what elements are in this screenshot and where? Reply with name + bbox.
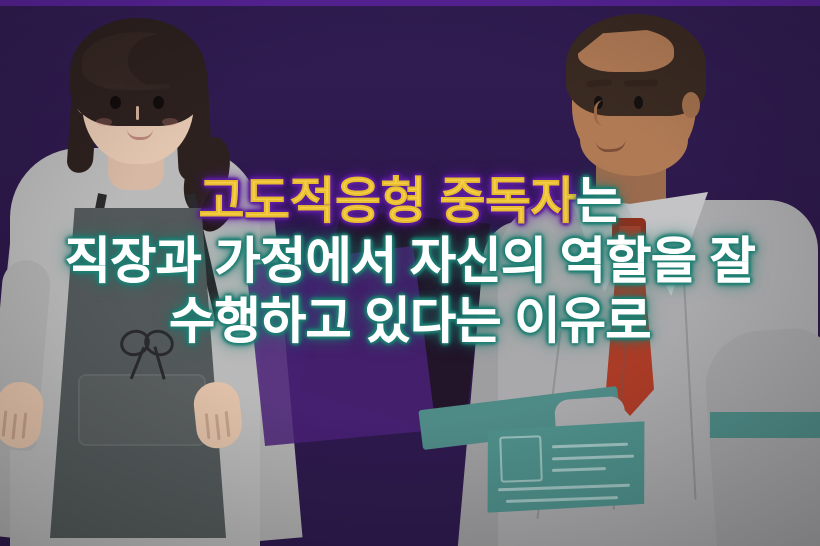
woman-apron-pocket (78, 374, 206, 446)
man-ear (682, 92, 700, 118)
woman-nose (136, 106, 139, 120)
man-right-eye (634, 96, 643, 109)
video-frame: 고도적응형 중독자는 직장과 가정에서 자신의 역할을 잘 수행하고 있다는 이… (0, 0, 820, 546)
woman-right-eye (153, 96, 164, 109)
woman-apron-bow (120, 330, 174, 352)
man-right-eyebrow (624, 79, 658, 86)
woman-left-eye (110, 96, 121, 109)
woman-right-cheek (162, 118, 178, 126)
woman-apron (50, 208, 226, 538)
man-nose (594, 100, 606, 126)
woman-left-cheek (96, 118, 112, 126)
document-photo-box (499, 435, 543, 482)
man-sleeve-cuff (710, 412, 820, 438)
background-purple-shape (246, 246, 436, 446)
